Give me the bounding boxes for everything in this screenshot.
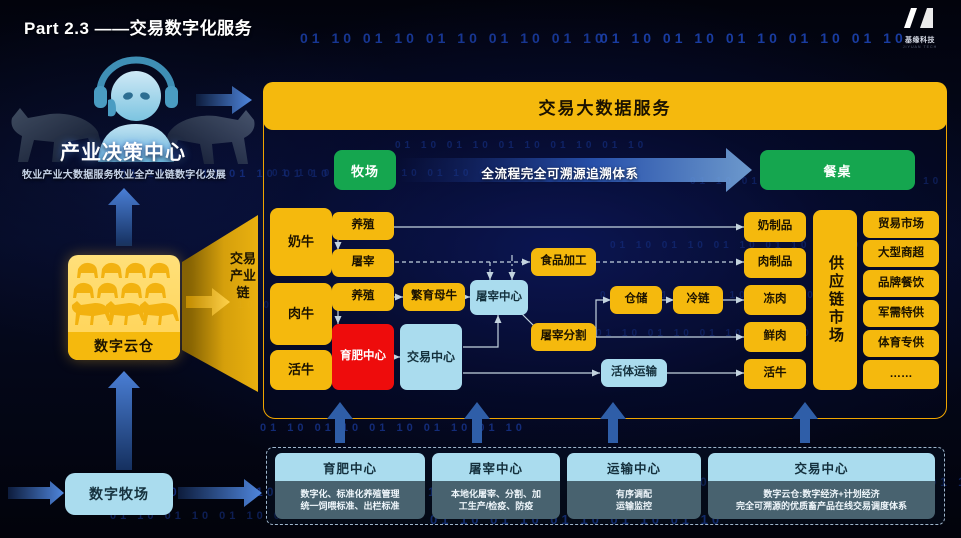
market-box-large-supermarket[interactable]: 大型商超 — [863, 240, 939, 267]
cloud-warehouse-card[interactable]: 数字云仓 — [68, 255, 180, 360]
binary-bg-row: 01 10 01 10 01 10 01 10 01 10 — [300, 30, 607, 46]
digital-farm-card[interactable]: 数字牧场 — [65, 473, 173, 515]
node-breeding-beef[interactable]: 养殖 — [332, 283, 394, 311]
bottom-card-line2: 统一饲喂标准、出栏标准 — [300, 500, 399, 512]
market-box-sports-supply[interactable]: 体育专供 — [863, 330, 939, 357]
brand-logo: 基缘科技 JIYUAN TECH — [889, 6, 951, 50]
node-breeding-cows[interactable]: 繁育母牛 — [403, 283, 465, 311]
bottom-card-slaughter-center[interactable]: 屠宰中心 本地化屠宰、分割、加 工生产/检疫、防疫 — [432, 453, 560, 519]
market-box-brand-catering[interactable]: 品牌餐饮 — [863, 270, 939, 297]
decision-center-title: 产业决策中心 — [8, 136, 238, 165]
market-box-trade-market[interactable]: 贸易市场 — [863, 211, 939, 238]
node-live-transport[interactable]: 活体运输 — [601, 359, 667, 387]
bottom-card-line1: 数字云仓:数字经济+计划经济 — [763, 488, 879, 500]
bottom-card-title: 运输中心 — [567, 453, 701, 481]
page-title: Part 2.3 ——交易数字化服务 — [24, 14, 252, 39]
slide-canvas: 01 10 01 10 01 10 01 10 01 10 01 10 01 1… — [0, 0, 961, 538]
category-box-beef-cow[interactable]: 肉牛 — [270, 283, 332, 345]
supply-chain-market-box[interactable]: 供应链市场 — [813, 210, 857, 390]
bottom-card-body: 数字云仓:数字经济+计划经济 完全可溯源的优质畜产品在线交易调度体系 — [708, 481, 935, 519]
bottom-centers-panel: 育肥中心 数字化、标准化养殖管理 统一饲喂标准、出栏标准 屠宰中心 本地化屠宰、… — [266, 447, 945, 525]
node-slaughter-dairy[interactable]: 屠宰 — [332, 249, 394, 277]
product-box-dairy-products[interactable]: 奶制品 — [744, 212, 806, 242]
logo-glyph-icon — [900, 6, 940, 30]
cloud-warehouse-label: 数字云仓 — [68, 332, 180, 360]
bottom-card-body: 有序调配 运输监控 — [567, 481, 701, 519]
product-box-fresh-meat[interactable]: 鲜肉 — [744, 322, 806, 352]
source-pasture-box[interactable]: 牧场 — [334, 150, 396, 190]
logo-name: 基缘科技 — [889, 35, 951, 45]
bottom-card-title: 交易中心 — [708, 453, 935, 481]
binary-bg-row: 01 10 01 10 01 10 01 10 01 10 — [600, 30, 907, 46]
category-box-live-cow[interactable]: 活牛 — [270, 350, 332, 390]
bottom-card-line1: 数字化、标准化养殖管理 — [300, 488, 399, 500]
logo-subtitle: JIYUAN TECH — [889, 45, 951, 49]
product-box-meat-products[interactable]: 肉制品 — [744, 248, 806, 278]
bottom-card-title: 屠宰中心 — [432, 453, 560, 481]
decision-center-subtitle: 牧业产业大数据服务牧业全产业链数字化发展 — [8, 166, 240, 181]
bottom-card-transport-center[interactable]: 运输中心 有序调配 运输监控 — [567, 453, 701, 519]
bottom-card-line2: 工生产/检疫、防疫 — [459, 500, 534, 512]
livestock-herd-icon — [68, 255, 180, 332]
bottom-card-line2: 运输监控 — [616, 500, 652, 512]
bottom-card-body: 数字化、标准化养殖管理 统一饲喂标准、出栏标准 — [275, 481, 425, 519]
industry-chain-label: 交易产业链 — [230, 250, 256, 301]
bottom-card-trade-center[interactable]: 交易中心 数字云仓:数字经济+计划经济 完全可溯源的优质畜产品在线交易调度体系 — [708, 453, 935, 519]
node-warehouse[interactable]: 仓储 — [610, 286, 662, 314]
bottom-card-line1: 本地化屠宰、分割、加 — [451, 488, 541, 500]
logo-mark-icon — [889, 6, 951, 35]
node-cold-chain[interactable]: 冷链 — [673, 286, 723, 314]
bottom-card-title: 育肥中心 — [275, 453, 425, 481]
big-data-service-bar: 交易大数据服务 — [263, 82, 947, 130]
market-box-military-supply[interactable]: 军需特供 — [863, 300, 939, 327]
node-food-processing[interactable]: 食品加工 — [531, 248, 596, 276]
node-breeding-dairy[interactable]: 养殖 — [332, 212, 394, 240]
node-slaughter-cutting[interactable]: 屠宰分割 — [531, 323, 596, 351]
node-trade-center[interactable]: 交易中心 — [400, 324, 462, 390]
category-box-dairy-cow[interactable]: 奶牛 — [270, 208, 332, 276]
market-box-more[interactable]: …… — [863, 360, 939, 389]
node-fattening-center[interactable]: 育肥中心 — [332, 324, 394, 390]
product-box-frozen-meat[interactable]: 冻肉 — [744, 285, 806, 315]
traceability-text: 全流程完全可溯源追溯体系 — [420, 163, 700, 182]
bottom-card-line1: 有序调配 — [616, 488, 652, 500]
target-table-box[interactable]: 餐桌 — [760, 150, 915, 190]
binary-bg-row: 01 10 01 10 01 10 01 10 01 10 — [260, 422, 526, 434]
bottom-card-body: 本地化屠宰、分割、加 工生产/检疫、防疫 — [432, 481, 560, 519]
bottom-card-line2: 完全可溯源的优质畜产品在线交易调度体系 — [736, 500, 907, 512]
product-box-live-cattle[interactable]: 活牛 — [744, 359, 806, 389]
bottom-card-fattening-center[interactable]: 育肥中心 数字化、标准化养殖管理 统一饲喂标准、出栏标准 — [275, 453, 425, 519]
node-slaughter-center[interactable]: 屠宰中心 — [470, 280, 528, 315]
